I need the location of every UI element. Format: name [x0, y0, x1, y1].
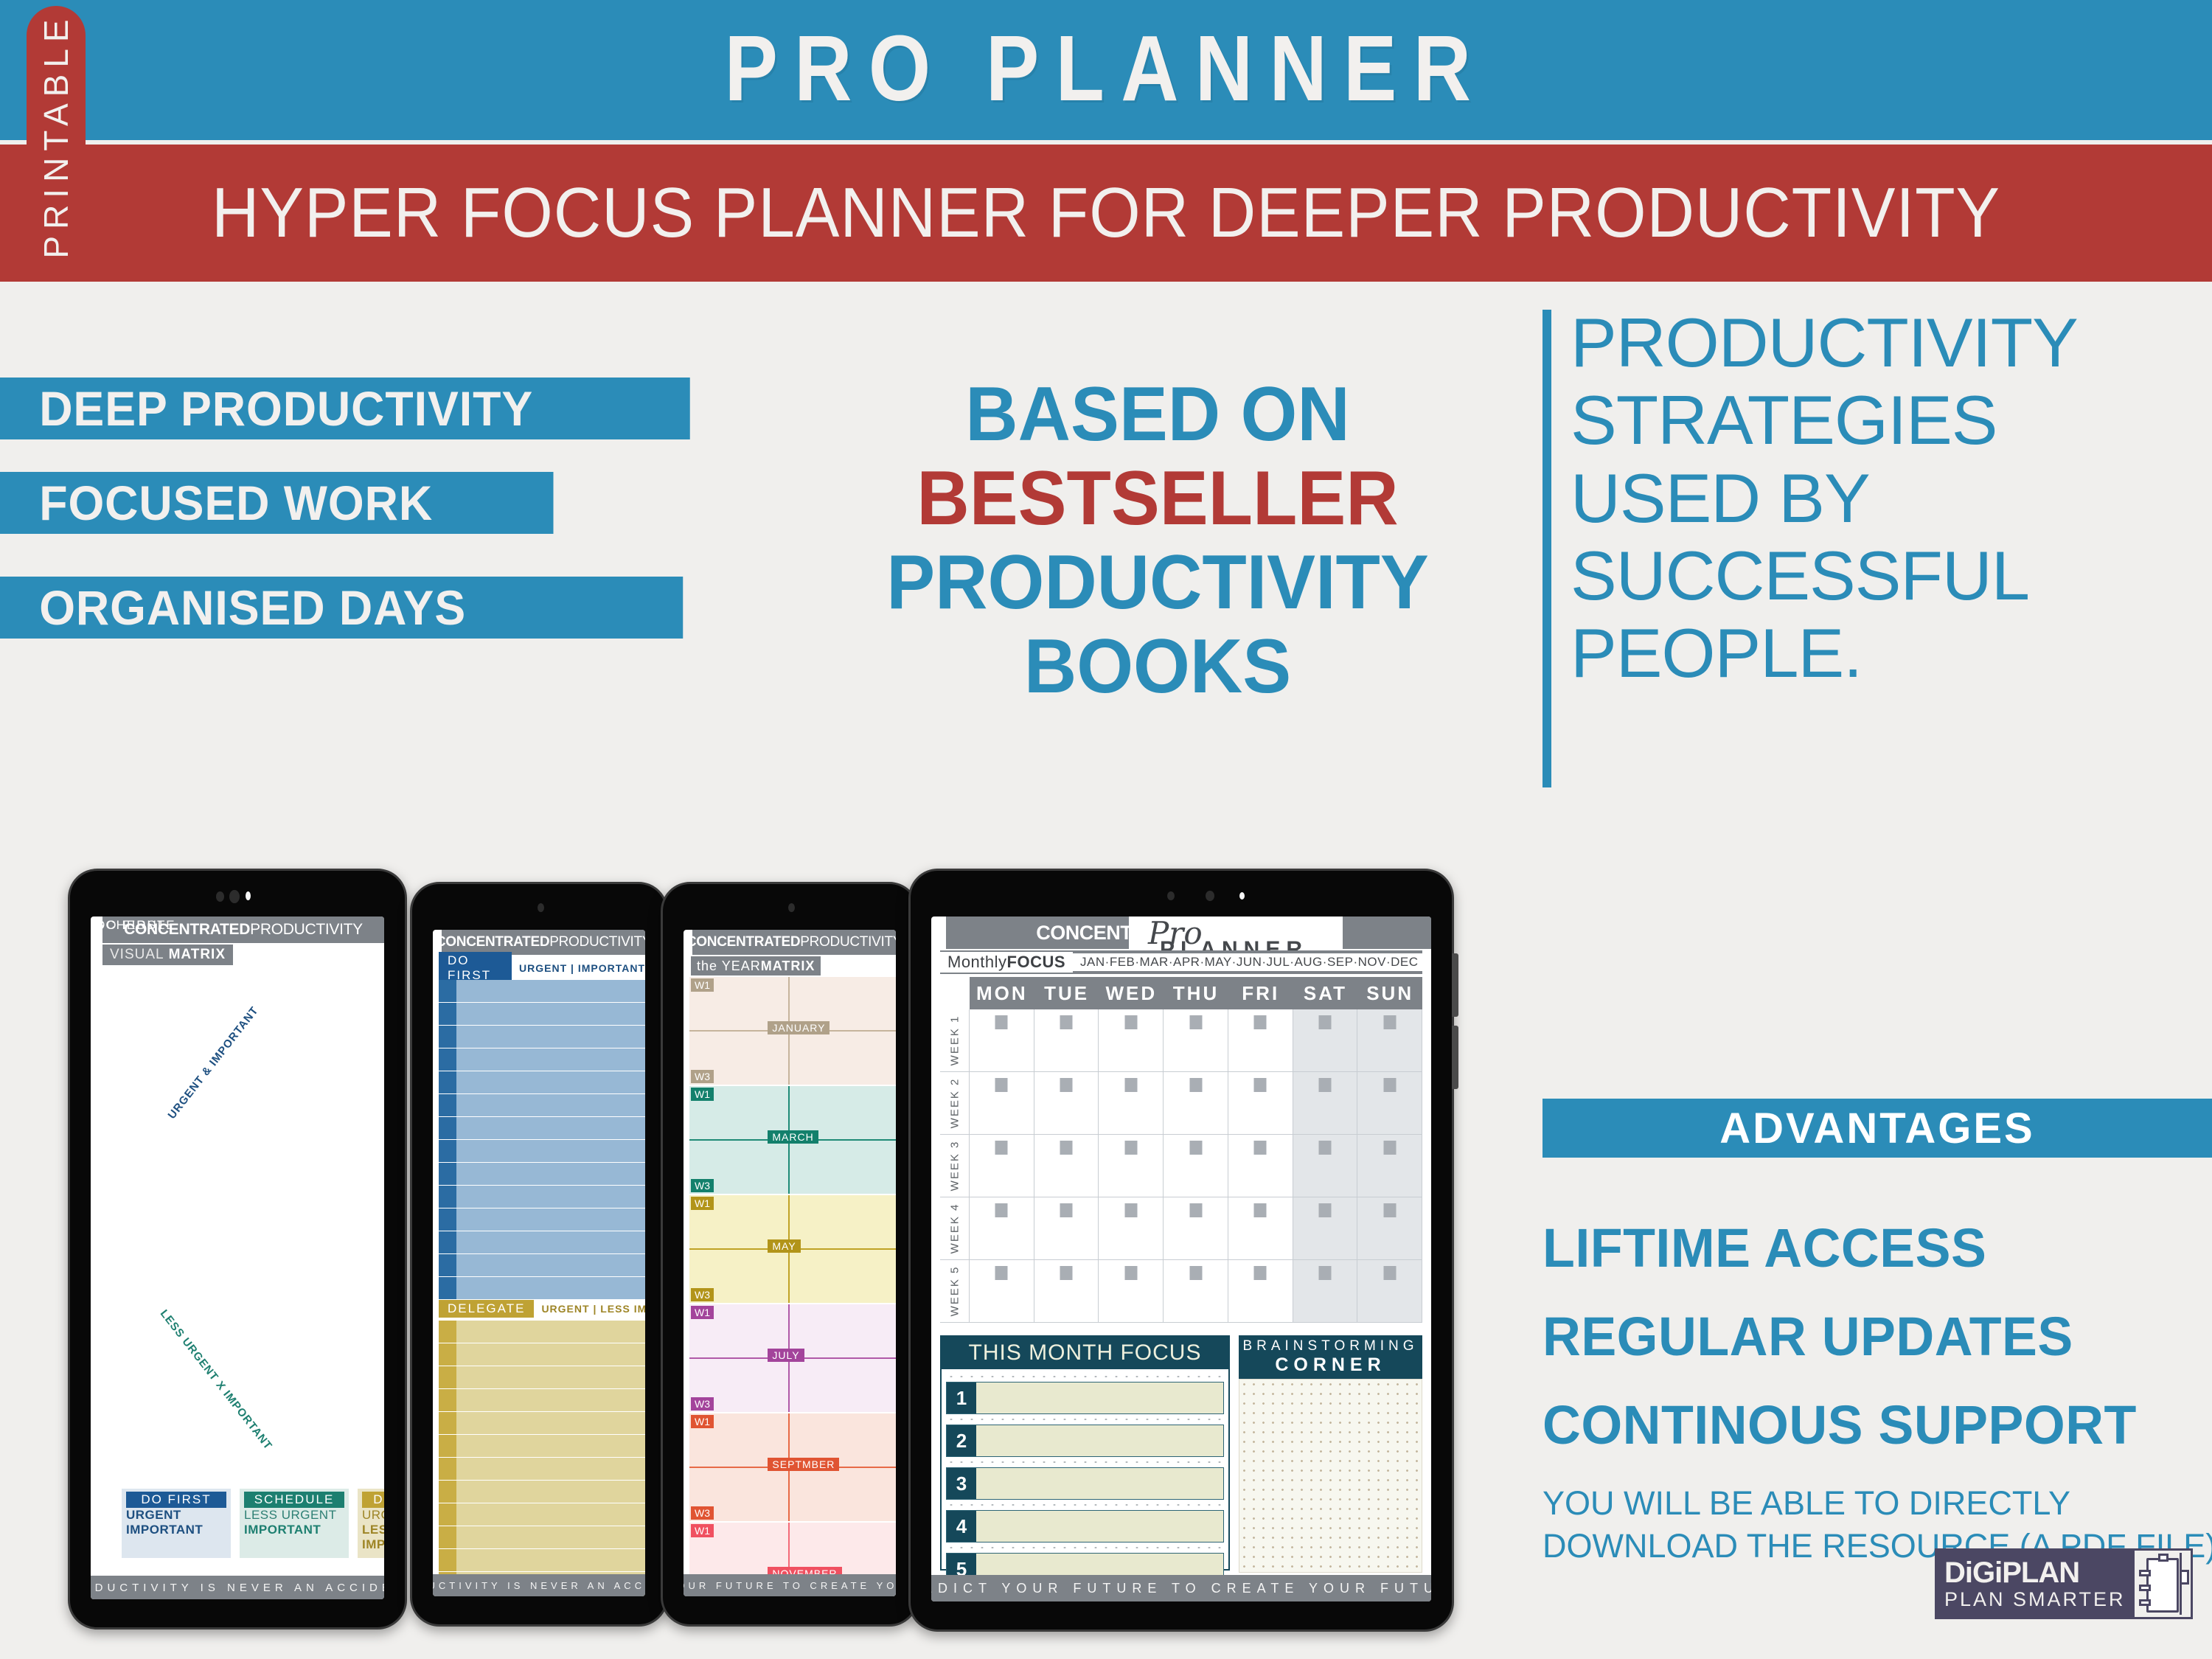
- week-mark-w1: W1: [691, 1306, 714, 1319]
- day-number-box: [1318, 1015, 1331, 1029]
- calendar-day-header: WED: [1099, 977, 1164, 1009]
- calendar-day-header: THU: [1164, 977, 1228, 1009]
- calendar-day-cell[interactable]: [1228, 1197, 1293, 1259]
- focus-divider: [946, 1545, 1224, 1551]
- year-month-block[interactable]: W1W3MAY: [689, 1195, 896, 1303]
- legend-line-2: IMPORTANT: [244, 1523, 344, 1537]
- day-number-box: [1189, 1266, 1202, 1280]
- day-number-box: [1060, 1203, 1073, 1217]
- tablet-monthly-focus[interactable]: CONCENTRATEDPRODUCTIVITY Pro PLANNER Mon…: [908, 869, 1454, 1632]
- row-marker: [439, 1094, 456, 1116]
- day-number-box: [1254, 1266, 1267, 1280]
- legend-line-1: URGENT: [126, 1508, 226, 1523]
- row-marker: [439, 1163, 456, 1185]
- intro-line-1: PRODUCTIVITY: [1571, 304, 2205, 381]
- logo-brand-name: DiGiPLAN: [1944, 1557, 2135, 1588]
- row-marker: [439, 1549, 456, 1571]
- row-marker: [439, 1208, 456, 1231]
- brainstorming-corner-panel: BRAINSTORMING CORNER: [1239, 1335, 1422, 1571]
- legend-line-1: LESS URGENT: [244, 1508, 344, 1523]
- section-header-do-first: DO FIRST URGENT | IMPORTANT: [439, 958, 645, 978]
- monthly-focus-bar: MonthlyFOCUS JAN·FEB·MAR·APR·MAY·JUN·JUL…: [940, 950, 1422, 974]
- headline-line-1: BASED ON: [821, 372, 1494, 456]
- calendar-week-row[interactable]: WEEK 1: [940, 1009, 1422, 1072]
- calendar-day-cell[interactable]: [1099, 1197, 1164, 1259]
- day-number-box: [1318, 1203, 1331, 1217]
- day-number-box: [1318, 1078, 1331, 1092]
- week-label: WEEK 3: [940, 1135, 970, 1197]
- focus-item-number: 4: [947, 1511, 976, 1542]
- legend-title: DO FIRST: [126, 1492, 226, 1508]
- monthly-focus-label: MonthlyFOCUS: [940, 952, 1073, 973]
- feature-bar-organised-days: ORGANISED DAYS: [0, 577, 683, 639]
- calendar-day-cell[interactable]: [1099, 1072, 1164, 1134]
- section-desc: URGENT | LESS IMPORTANT: [541, 1303, 645, 1315]
- row-line[interactable]: [456, 1321, 645, 1343]
- monthly-calendar[interactable]: MONTUEWEDTHUFRISATSUN WEEK 1WEEK 2WEEK 3…: [940, 977, 1422, 1324]
- row-marker: [439, 1117, 456, 1139]
- legend-card-do-first: DO FIRST URGENT IMPORTANT: [122, 1489, 231, 1558]
- brand-thin: PRODUCTIVITY: [250, 921, 363, 939]
- table-row[interactable]: [439, 1117, 645, 1139]
- day-number-box: [1124, 1141, 1137, 1155]
- day-number-box: [1254, 1141, 1267, 1155]
- calendar-day-cell[interactable]: [970, 1260, 1034, 1322]
- header-subtitle: HYPER FOCUS PLANNER FOR DEEPER PRODUCTIV…: [77, 145, 2135, 282]
- year-month-block[interactable]: W1W3JANUARY: [689, 977, 896, 1085]
- calendar-day-cell[interactable]: [1099, 1135, 1164, 1197]
- day-number-box: [1189, 1078, 1202, 1092]
- digiplan-logo: DiGiPLAN PLAN SMARTER: [1935, 1548, 2193, 1619]
- legend-line-2: LESS IMPORTANT: [362, 1523, 384, 1552]
- advantages-heading: ADVANTAGES: [1543, 1099, 2212, 1158]
- row-marker: [439, 1435, 456, 1457]
- calendar-day-cell[interactable]: [1293, 1197, 1358, 1259]
- row-line[interactable]: [456, 1366, 645, 1388]
- focus-divider: [946, 1416, 1224, 1422]
- calendar-day-cell[interactable]: [970, 1135, 1034, 1197]
- row-marker: [439, 1526, 456, 1548]
- table-row[interactable]: [439, 1526, 645, 1548]
- table-row[interactable]: [439, 1003, 645, 1025]
- table-row[interactable]: [439, 1231, 645, 1253]
- day-number-box: [1254, 1015, 1267, 1029]
- brand-thin: PRODUCTIVITY: [800, 934, 896, 950]
- focus-item[interactable]: 2: [946, 1425, 1224, 1457]
- brainstorming-title-bottom: CORNER: [1239, 1354, 1422, 1376]
- week-label: WEEK 1: [940, 1009, 970, 1071]
- calendar-day-header: MON: [970, 977, 1034, 1009]
- calendar-day-cell[interactable]: [1357, 1009, 1422, 1071]
- row-marker: [439, 1071, 456, 1093]
- calendar-week-row[interactable]: WEEK 3: [940, 1135, 1422, 1197]
- page-brand-header: CONCENTRATEDPRODUCTIVITY: [692, 930, 896, 955]
- calendar-day-cell[interactable]: [1228, 1135, 1293, 1197]
- brand-bold: CONCENTRATED: [692, 934, 800, 950]
- intro-line-3: USED BY: [1571, 459, 2205, 537]
- tablet-screen: CONCENTRATEDPRODUCTIVITY the YEARMATRIX …: [684, 930, 896, 1596]
- week-mark-w1: W1: [691, 1415, 714, 1428]
- row-line[interactable]: [456, 1186, 645, 1208]
- camera-lens-icon: [229, 890, 240, 903]
- row-marker: [439, 1412, 456, 1434]
- intro-line-4: SUCCESSFUL: [1571, 537, 2205, 614]
- row-line[interactable]: [456, 1071, 645, 1093]
- table-row[interactable]: [439, 1208, 645, 1231]
- focus-item-input[interactable]: [976, 1382, 1223, 1413]
- page-title: PRO PLANNER: [155, 13, 2057, 124]
- day-number-box: [1189, 1141, 1202, 1155]
- table-row[interactable]: [439, 1163, 645, 1185]
- intro-paragraph: PRODUCTIVITY STRATEGIES USED BY SUCCESSF…: [1571, 304, 2205, 692]
- advantage-regular-updates: REGULAR UPDATES: [1543, 1305, 2073, 1368]
- row-marker: [439, 1231, 456, 1253]
- day-number-box: [995, 1203, 1008, 1217]
- row-marker: [439, 1277, 456, 1299]
- row-line[interactable]: [456, 1503, 645, 1526]
- focus-item-input[interactable]: [976, 1425, 1223, 1456]
- intro-line-2: STRATEGIES: [1571, 381, 2205, 459]
- row-line[interactable]: [456, 1140, 645, 1162]
- day-number-box: [1318, 1141, 1331, 1155]
- table-row[interactable]: [439, 1277, 645, 1299]
- day-number-box: [995, 1015, 1008, 1029]
- page-footer: PREDICT YOUR FUTURE TO CREATE YOUR FUTUR…: [931, 1575, 1431, 1601]
- calendar-day-cell[interactable]: [970, 1197, 1034, 1259]
- legend-card-schedule: SCHEDULE LESS URGENT IMPORTANT: [240, 1489, 349, 1558]
- week-mark-w3: W3: [691, 1070, 714, 1083]
- day-number-box: [1124, 1203, 1137, 1217]
- calendar-day-header: FRI: [1228, 977, 1293, 1009]
- table-row[interactable]: [439, 1389, 645, 1411]
- page-subtitle-bold: MATRIX: [169, 947, 226, 963]
- feature-bar-deep-productivity: DEEP PRODUCTIVITY: [0, 378, 690, 439]
- week-mark-w1: W1: [691, 1088, 714, 1101]
- tablet-screen: CONCENTRATEDPRODUCTIVITY Pro PLANNER Mon…: [931, 917, 1431, 1601]
- advantage-continous-support: CONTINOUS SUPPORT: [1543, 1394, 2137, 1456]
- row-line[interactable]: [456, 980, 645, 1002]
- section-desc: URGENT | IMPORTANT: [519, 962, 645, 974]
- week-mark-w3: W3: [691, 1288, 714, 1301]
- row-line[interactable]: [456, 1343, 645, 1366]
- page-subtitle: the YEARMATRIX: [691, 956, 821, 975]
- intro-accent-rule: [1543, 310, 1551, 787]
- section-header-delegate: DELEGATE URGENT | LESS IMPORTANT: [439, 1298, 645, 1319]
- monthly-label-bold: FOCUS: [1007, 953, 1066, 971]
- legend-line-2: IMPORTANT: [126, 1523, 226, 1537]
- week-mark-w1: W1: [691, 1197, 714, 1210]
- label-less-urgent-important: LESS URGENT X IMPORTANT: [158, 1307, 275, 1452]
- focus-item-list[interactable]: 12345: [942, 1369, 1228, 1595]
- page-subtitle-thin: VISUAL: [110, 947, 164, 963]
- row-line[interactable]: [456, 1458, 645, 1480]
- brainstorming-dot-grid[interactable]: [1239, 1379, 1422, 1573]
- sensor-icon: [246, 891, 251, 900]
- calendar-day-cell[interactable]: [1293, 1072, 1358, 1134]
- year-month-block[interactable]: W1W3MARCH: [689, 1086, 896, 1194]
- day-number-box: [995, 1266, 1008, 1280]
- day-number-box: [1189, 1015, 1202, 1029]
- week-mark-w3: W3: [691, 1506, 714, 1520]
- row-line[interactable]: [456, 1277, 645, 1299]
- focus-divider: [946, 1459, 1224, 1465]
- calendar-day-cell[interactable]: [1099, 1009, 1164, 1071]
- month-label: JULY: [768, 1349, 804, 1362]
- calendar-day-cell[interactable]: [1293, 1009, 1358, 1071]
- tablet-year-matrix[interactable]: CONCENTRATEDPRODUCTIVITY the YEARMATRIX …: [661, 882, 919, 1627]
- focus-item[interactable]: 4: [946, 1510, 1224, 1543]
- row-marker: [439, 1026, 456, 1048]
- day-number-box: [1060, 1141, 1073, 1155]
- row-line[interactable]: [456, 1117, 645, 1139]
- focus-item-number: 3: [947, 1468, 976, 1499]
- table-row[interactable]: [439, 1435, 645, 1457]
- day-number-box: [1383, 1078, 1396, 1092]
- table-row[interactable]: [439, 1458, 645, 1480]
- notebook-icon: [2135, 1551, 2191, 1617]
- calendar-corner-cell: [940, 977, 970, 1009]
- calendar-day-cell[interactable]: [1293, 1135, 1358, 1197]
- row-marker: [439, 1254, 456, 1276]
- row-line[interactable]: [456, 1254, 645, 1276]
- volume-up-button[interactable]: [1452, 953, 1458, 1017]
- volume-down-button[interactable]: [1452, 1026, 1458, 1089]
- day-number-box: [995, 1078, 1008, 1092]
- table-row[interactable]: [439, 1549, 645, 1571]
- row-line[interactable]: [456, 1231, 645, 1253]
- camera-icon: [216, 891, 224, 902]
- row-line[interactable]: [456, 1481, 645, 1503]
- day-number-box: [1124, 1078, 1137, 1092]
- legend-line-1: URGENT: [362, 1508, 384, 1523]
- row-line[interactable]: [456, 1163, 645, 1185]
- calendar-day-cell[interactable]: [1034, 1197, 1099, 1259]
- label-urgent-important: URGENT & IMPORTANT: [166, 1004, 261, 1121]
- calendar-day-cell[interactable]: [1357, 1197, 1422, 1259]
- day-number-box: [1383, 1266, 1396, 1280]
- row-line[interactable]: [456, 1526, 645, 1548]
- table-row[interactable]: [439, 1026, 645, 1048]
- sensor-icon: [1239, 892, 1245, 900]
- tablet-do-first-list[interactable]: CONCENTRATEDPRODUCTIVITY DO FIRST URGENT…: [410, 882, 668, 1627]
- row-marker: [439, 1048, 456, 1071]
- calendar-day-cell[interactable]: [1164, 1072, 1228, 1134]
- row-marker: [439, 980, 456, 1002]
- table-row[interactable]: [439, 1140, 645, 1162]
- logo-tagline: PLAN SMARTER: [1944, 1588, 2135, 1610]
- week-mark-w3: W3: [691, 1397, 714, 1411]
- day-number-box: [1060, 1078, 1073, 1092]
- month-label: SEPTMBER: [768, 1458, 839, 1471]
- monthly-label-thin: Monthly: [947, 953, 1007, 971]
- page-subtitle-bold: MATRIX: [761, 959, 815, 974]
- table-row[interactable]: [439, 1412, 645, 1434]
- matrix-legend: DO FIRST URGENT IMPORTANT SCHEDULE LESS …: [122, 1489, 384, 1558]
- brand-thin: PRODUCTIVITY: [549, 934, 645, 950]
- tag-schedule: SCHEDULE: [91, 917, 181, 934]
- advantage-lifetime-access: LIFTIME ACCESS: [1543, 1217, 1986, 1279]
- day-number-box: [1124, 1266, 1137, 1280]
- row-line[interactable]: [456, 1094, 645, 1116]
- calendar-day-cell[interactable]: [1099, 1260, 1164, 1322]
- row-marker: [439, 1321, 456, 1343]
- row-marker: [439, 1458, 456, 1480]
- row-line[interactable]: [456, 1003, 645, 1025]
- headline-line-2: BESTSELLER: [821, 456, 1494, 540]
- table-row[interactable]: [439, 1366, 645, 1388]
- year-month-block[interactable]: W1W3SEPTMBER: [689, 1413, 896, 1521]
- month-label: JANUARY: [768, 1021, 829, 1034]
- section-chip: DELEGATE: [439, 1300, 534, 1318]
- tablet-visual-matrix[interactable]: CONCENTRATEDPRODUCTIVITY VISUALMATRIX UR…: [68, 869, 407, 1630]
- calendar-day-cell[interactable]: [1034, 1135, 1099, 1197]
- week-mark-w1: W1: [691, 978, 714, 992]
- brainstorming-title-top: BRAINSTORMING: [1239, 1338, 1422, 1354]
- row-line[interactable]: [456, 1549, 645, 1571]
- bestseller-headline: BASED ON BESTSELLER PRODUCTIVITY BOOKS: [821, 372, 1494, 709]
- day-number-box: [1060, 1266, 1073, 1280]
- table-row[interactable]: [439, 980, 645, 1002]
- week-label: WEEK 4: [940, 1197, 970, 1259]
- page-footer: PREDICT YOUR FUTURE TO CREATE YOUR FUTUR…: [684, 1574, 896, 1596]
- calendar-day-cell[interactable]: [1357, 1260, 1422, 1322]
- calendar-day-cell[interactable]: [1228, 1072, 1293, 1134]
- row-marker: [439, 1140, 456, 1162]
- page-brand-header: CONCENTRATEDPRODUCTIVITY: [442, 930, 645, 955]
- intro-line-5: PEOPLE.: [1571, 614, 2205, 692]
- brainstorming-title: BRAINSTORMING CORNER: [1239, 1335, 1422, 1379]
- printable-badge: PRINTABLE: [27, 6, 86, 265]
- legend-title: DELEGATE: [362, 1492, 384, 1508]
- legend-card-delegate: DELEGATE URGENT LESS IMPORTANT: [358, 1489, 384, 1558]
- day-number-box: [1124, 1015, 1137, 1029]
- page-footer: PRODUCTIVITY IS NEVER AN ACCIDENT: [433, 1574, 645, 1596]
- day-number-box: [1383, 1015, 1396, 1029]
- calendar-day-cell[interactable]: [1164, 1197, 1228, 1259]
- day-number-box: [1189, 1203, 1202, 1217]
- day-number-box: [995, 1141, 1008, 1155]
- day-number-box: [1254, 1078, 1267, 1092]
- focus-item[interactable]: 1: [946, 1382, 1224, 1414]
- calendar-day-cell[interactable]: [1164, 1260, 1228, 1322]
- table-row[interactable]: [439, 1254, 645, 1276]
- week-mark-w1: W1: [691, 1524, 714, 1537]
- month-label: MARCH: [768, 1130, 818, 1144]
- calendar-week-rows[interactable]: WEEK 1WEEK 2WEEK 3WEEK 4WEEK 5: [940, 1009, 1422, 1323]
- camera-lens-icon: [1206, 891, 1214, 901]
- calendar-week-row[interactable]: WEEK 5: [940, 1260, 1422, 1323]
- calendar-day-cell[interactable]: [1164, 1135, 1228, 1197]
- focus-divider: [946, 1502, 1224, 1508]
- day-number-box: [1383, 1141, 1396, 1155]
- row-line[interactable]: [456, 1208, 645, 1231]
- tablet-screen: CONCENTRATEDPRODUCTIVITY DO FIRST URGENT…: [433, 930, 645, 1596]
- row-marker: [439, 1503, 456, 1526]
- day-number-box: [1254, 1203, 1267, 1217]
- row-line[interactable]: [456, 1412, 645, 1434]
- row-marker: [439, 1366, 456, 1388]
- focus-panel-title: THIS MONTH FOCUS: [942, 1337, 1228, 1369]
- week-label: WEEK 5: [940, 1260, 970, 1322]
- table-row[interactable]: [439, 1071, 645, 1093]
- brand-bold: CONCENTRATED: [442, 934, 549, 950]
- calendar-day-header: SAT: [1293, 977, 1358, 1009]
- focus-item-input[interactable]: [976, 1468, 1223, 1499]
- calendar-day-cell[interactable]: [1164, 1009, 1228, 1071]
- page-subtitle: VISUALMATRIX: [102, 945, 233, 965]
- year-month-block[interactable]: W1W3JULY: [689, 1304, 896, 1412]
- headline-line-3: PRODUCTIVITY: [821, 540, 1494, 625]
- page-footer: PRODUCTIVITY IS NEVER AN ACCIDENT: [91, 1576, 384, 1599]
- focus-divider: [946, 1374, 1224, 1380]
- table-row[interactable]: [439, 1503, 645, 1526]
- row-line[interactable]: [456, 1048, 645, 1071]
- calendar-day-cell[interactable]: [1357, 1072, 1422, 1134]
- advantages-note-line-1: YOU WILL BE ABLE TO DIRECTLY: [1543, 1482, 2212, 1525]
- row-marker: [439, 1186, 456, 1208]
- calendar-day-cell[interactable]: [1293, 1260, 1358, 1322]
- table-row[interactable]: [439, 1343, 645, 1366]
- calendar-day-headers: MONTUEWEDTHUFRISATSUN: [940, 977, 1422, 1009]
- table-row[interactable]: [439, 1048, 645, 1071]
- week-mark-w3: W3: [691, 1179, 714, 1192]
- camera-icon: [1167, 891, 1175, 900]
- focus-item-input[interactable]: [976, 1511, 1223, 1542]
- calendar-day-header: TUE: [1034, 977, 1099, 1009]
- day-number-box: [1060, 1015, 1073, 1029]
- table-row[interactable]: [439, 1481, 645, 1503]
- row-marker: [439, 1481, 456, 1503]
- day-number-box: [1318, 1266, 1331, 1280]
- calendar-day-header: SUN: [1357, 977, 1422, 1009]
- logo-text-block: DiGiPLAN PLAN SMARTER: [1937, 1551, 2135, 1617]
- feature-bar-focused-work: FOCUSED WORK: [0, 472, 554, 534]
- calendar-day-cell[interactable]: [1357, 1135, 1422, 1197]
- calendar-day-cell[interactable]: [970, 1072, 1034, 1134]
- calendar-week-row[interactable]: WEEK 4: [940, 1197, 1422, 1260]
- printable-badge-label: PRINTABLE: [36, 13, 76, 258]
- calendar-week-row[interactable]: WEEK 2: [940, 1072, 1422, 1135]
- tablet-screen: CONCENTRATEDPRODUCTIVITY VISUALMATRIX UR…: [91, 917, 384, 1599]
- row-marker: [439, 1389, 456, 1411]
- row-line[interactable]: [456, 1389, 645, 1411]
- this-month-focus-panel: THIS MONTH FOCUS 12345: [940, 1335, 1230, 1571]
- calendar-day-cell[interactable]: [1228, 1009, 1293, 1071]
- camera-icon: [788, 903, 795, 912]
- calendar-day-cell[interactable]: [1034, 1260, 1099, 1322]
- calendar-day-cell[interactable]: [1034, 1072, 1099, 1134]
- focus-item-number: 1: [947, 1382, 976, 1413]
- calendar-day-cell[interactable]: [1228, 1260, 1293, 1322]
- row-line[interactable]: [456, 1026, 645, 1048]
- table-row[interactable]: [439, 1094, 645, 1116]
- row-line[interactable]: [456, 1435, 645, 1457]
- row-marker: [439, 1343, 456, 1366]
- legend-title: SCHEDULE: [244, 1492, 344, 1508]
- camera-icon: [538, 903, 544, 912]
- month-selector-strip[interactable]: JAN·FEB·MAR·APR·MAY·JUN·JUL·AUG·SEP·NOV·…: [1073, 953, 1425, 971]
- calendar-day-cell[interactable]: [1034, 1009, 1099, 1071]
- focus-item-number: 2: [947, 1425, 976, 1456]
- table-row[interactable]: [439, 1186, 645, 1208]
- bottom-panels: THIS MONTH FOCUS 12345 BRAINSTORMING COR…: [940, 1335, 1422, 1571]
- table-row[interactable]: [439, 1321, 645, 1343]
- week-label: WEEK 2: [940, 1072, 970, 1134]
- calendar-day-cell[interactable]: [970, 1009, 1034, 1071]
- month-label: MAY: [768, 1239, 800, 1253]
- day-number-box: [1383, 1203, 1396, 1217]
- focus-item[interactable]: 3: [946, 1467, 1224, 1500]
